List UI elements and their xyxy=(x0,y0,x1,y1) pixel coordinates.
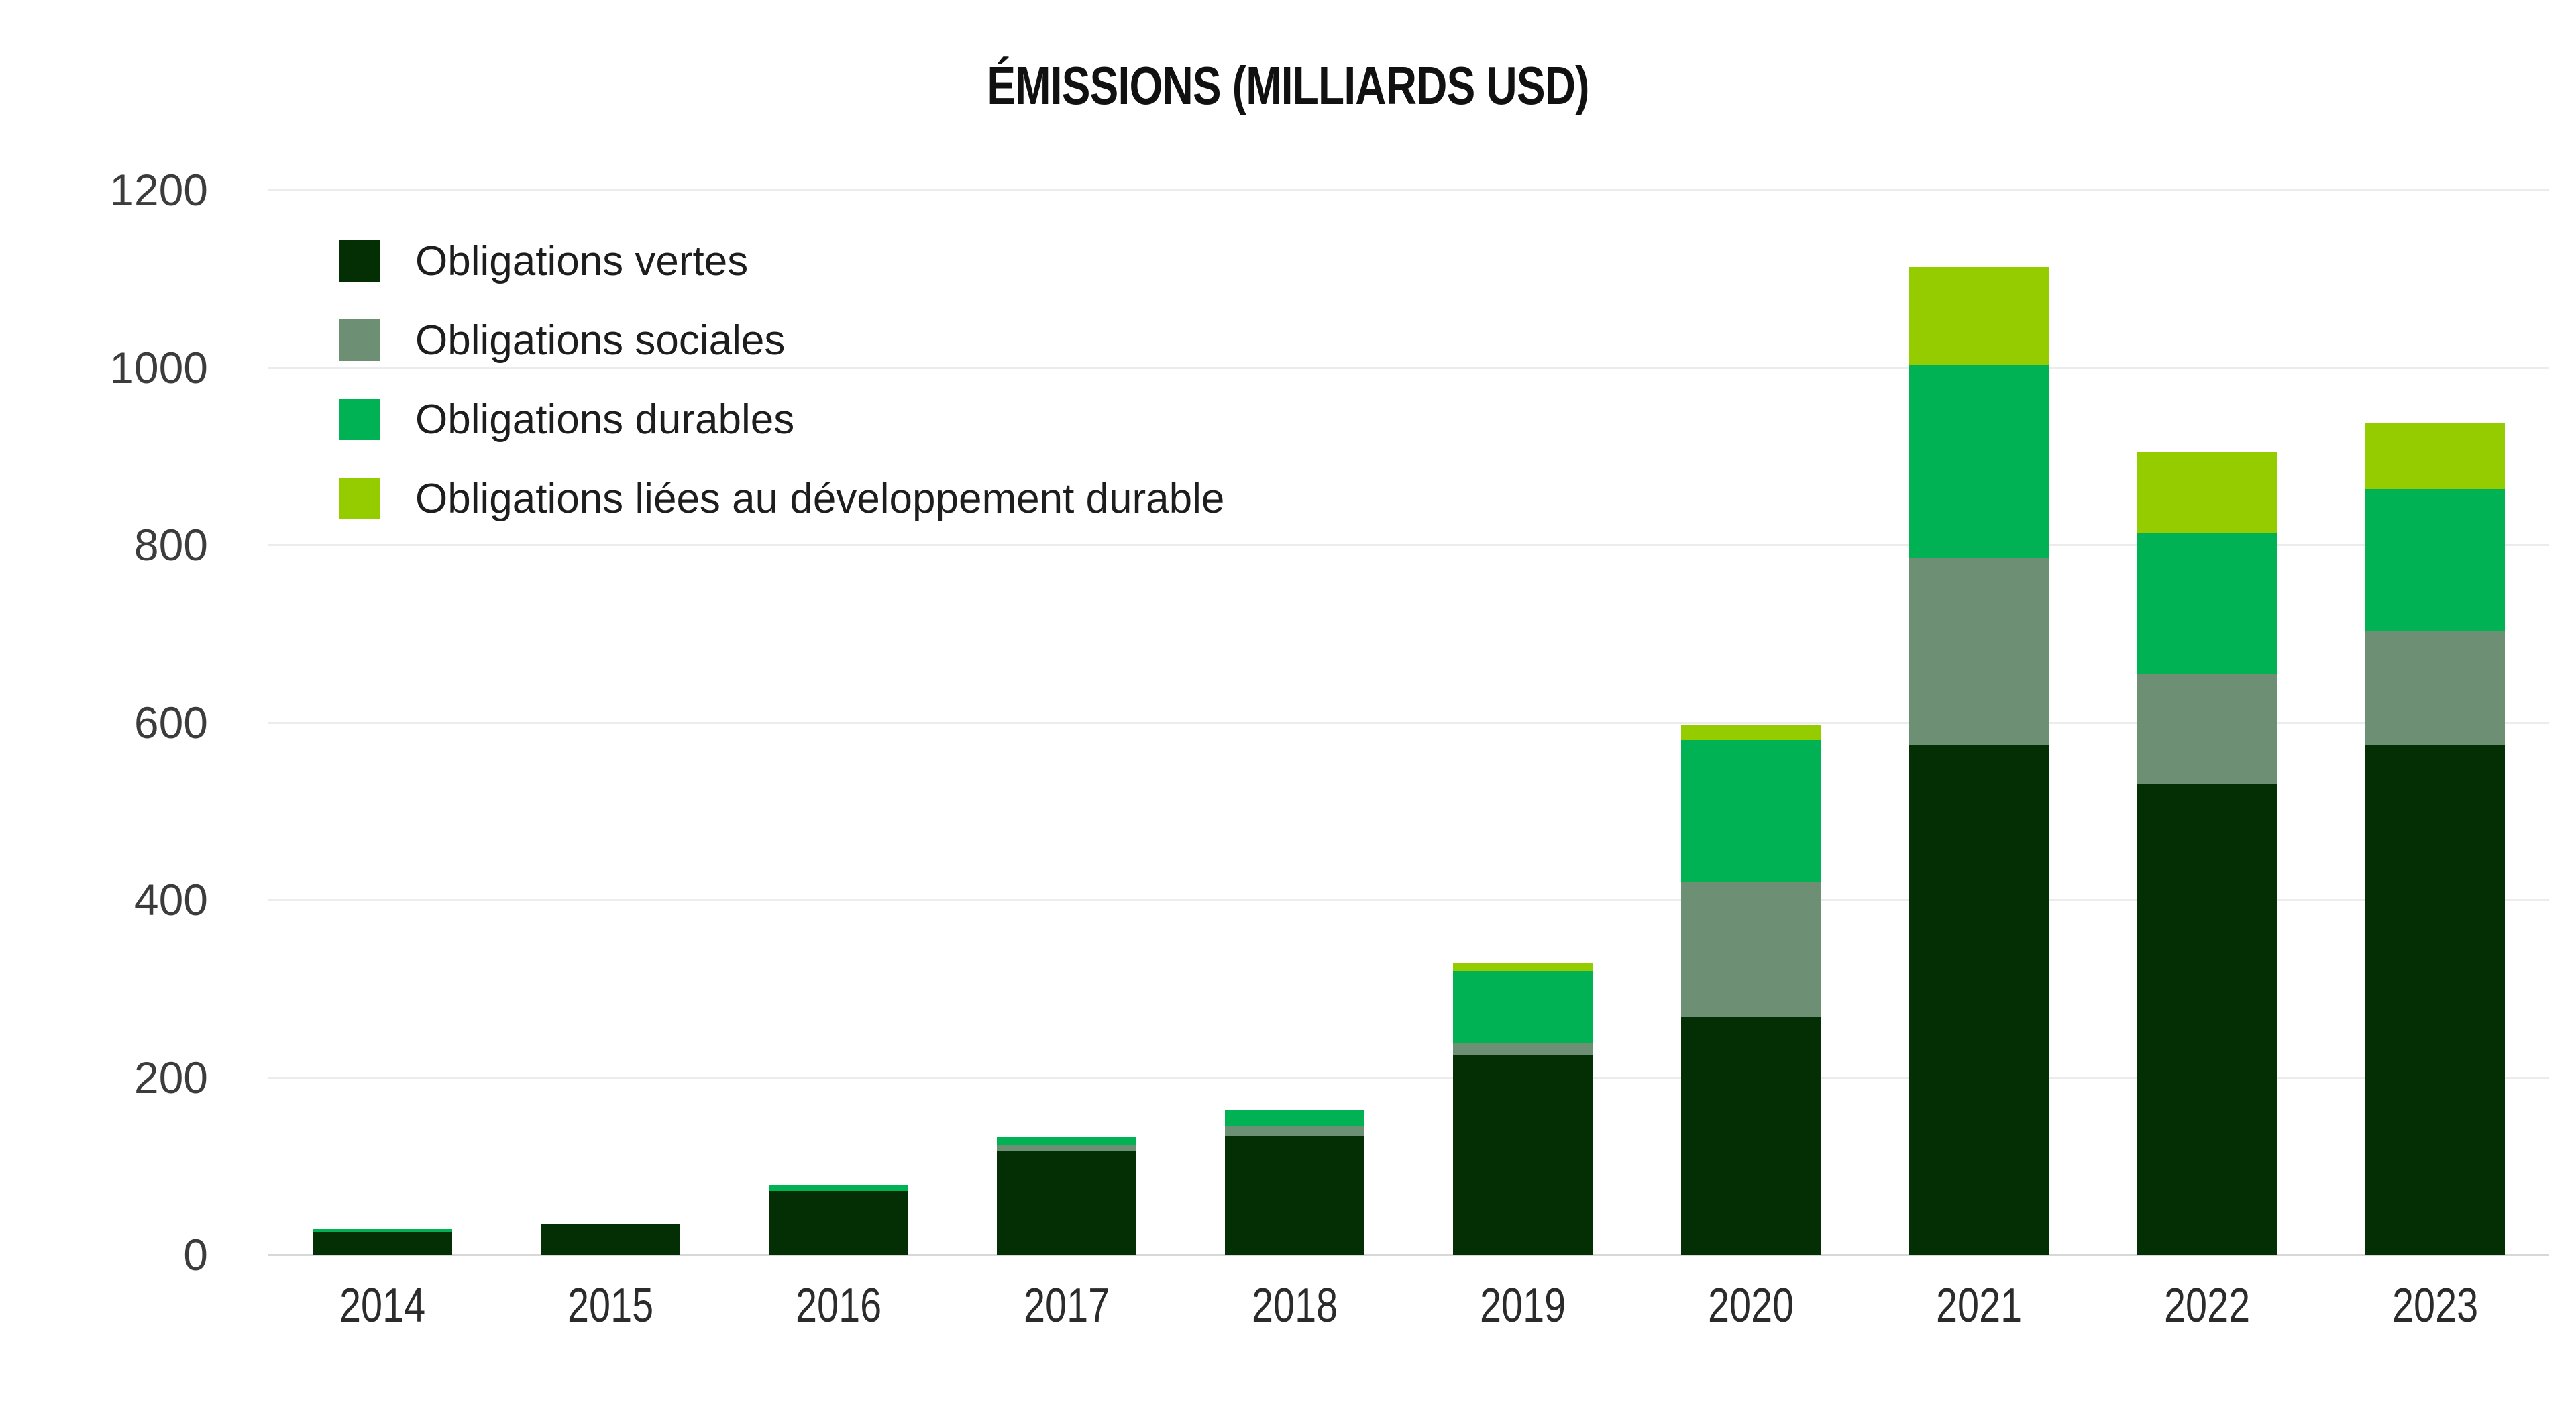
bar-segment[interactable] xyxy=(1453,971,1592,1043)
x-axis-tick-label: 2021 xyxy=(1936,1278,2022,1333)
chart-page: ÉMISSIONS (MILLIARDS USD) 12001000800600… xyxy=(0,0,2576,1417)
bar-slot-2021 xyxy=(1865,190,2093,1255)
chart-legend: Obligations vertesObligations socialesOb… xyxy=(339,221,1224,538)
legend-label: Obligations liées au développement durab… xyxy=(415,475,1224,523)
legend-swatch-icon xyxy=(339,399,380,440)
bar-segment[interactable] xyxy=(2365,423,2504,489)
bar-segment[interactable] xyxy=(1681,882,1820,1017)
legend-item[interactable]: Obligations sociales xyxy=(339,301,1224,380)
bar-segment[interactable] xyxy=(997,1137,1136,1145)
stacked-bar[interactable] xyxy=(1909,267,2048,1255)
stacked-bar[interactable] xyxy=(1453,963,1592,1255)
bar-segment[interactable] xyxy=(2365,631,2504,744)
legend-swatch-icon xyxy=(339,319,380,361)
bar-segment[interactable] xyxy=(1453,1055,1592,1255)
bar-segment[interactable] xyxy=(313,1232,451,1255)
x-axis-tick-cell: 2017 xyxy=(953,1278,1181,1333)
y-axis-tick-label: 600 xyxy=(134,697,208,748)
bar-segment[interactable] xyxy=(1909,745,2048,1255)
x-axis-tick-label: 2020 xyxy=(1708,1278,1794,1333)
x-axis-tick-cell: 2014 xyxy=(268,1278,496,1333)
bar-segment[interactable] xyxy=(2137,674,2276,784)
bar-segment[interactable] xyxy=(2137,533,2276,674)
x-axis-tick-cell: 2023 xyxy=(2321,1278,2549,1333)
bar-segment[interactable] xyxy=(1681,1017,1820,1255)
bar-slot-2020 xyxy=(1637,190,1865,1255)
y-axis-tick-label: 1000 xyxy=(109,342,208,393)
legend-swatch-icon xyxy=(339,478,380,519)
legend-item[interactable]: Obligations vertes xyxy=(339,221,1224,301)
bar-segment[interactable] xyxy=(769,1185,908,1191)
x-axis-tick-cell: 2015 xyxy=(496,1278,724,1333)
x-axis-tick-cell: 2020 xyxy=(1637,1278,1865,1333)
bar-slot-2023 xyxy=(2321,190,2549,1255)
bar-segment[interactable] xyxy=(1909,558,2048,745)
bar-segment[interactable] xyxy=(1909,267,2048,364)
y-axis-tick-labels: 120010008006004002000 xyxy=(0,190,248,1255)
bar-segment[interactable] xyxy=(1225,1110,1364,1126)
bar-segment[interactable] xyxy=(1453,1043,1592,1055)
bar-slot-2022 xyxy=(2093,190,2321,1255)
bar-segment[interactable] xyxy=(2137,784,2276,1255)
bar-segment[interactable] xyxy=(1681,740,1820,882)
x-axis-tick-labels: 2014201520162017201820192020202120222023 xyxy=(268,1278,2549,1333)
x-axis-tick-label: 2016 xyxy=(796,1278,881,1333)
chart-title: ÉMISSIONS (MILLIARDS USD) xyxy=(258,55,2318,117)
y-axis-tick-label: 800 xyxy=(134,519,208,570)
x-axis-tick-label: 2019 xyxy=(1480,1278,1566,1333)
stacked-bar[interactable] xyxy=(769,1185,908,1255)
x-axis-tick-cell: 2016 xyxy=(724,1278,953,1333)
x-axis-tick-label: 2015 xyxy=(568,1278,653,1333)
y-axis-tick-label: 1200 xyxy=(109,164,208,215)
bar-segment[interactable] xyxy=(2137,452,2276,533)
stacked-bar[interactable] xyxy=(1225,1110,1364,1255)
y-axis-tick-label: 0 xyxy=(183,1229,208,1280)
bar-segment[interactable] xyxy=(769,1191,908,1255)
stacked-bar[interactable] xyxy=(313,1229,451,1255)
stacked-bar[interactable] xyxy=(997,1137,1136,1255)
legend-label: Obligations vertes xyxy=(415,238,748,285)
bar-segment[interactable] xyxy=(1225,1136,1364,1255)
stacked-bar[interactable] xyxy=(541,1224,680,1255)
y-axis-tick-label: 200 xyxy=(134,1052,208,1103)
legend-item[interactable]: Obligations liées au développement durab… xyxy=(339,459,1224,538)
x-axis-tick-cell: 2022 xyxy=(2093,1278,2321,1333)
bar-segment[interactable] xyxy=(541,1224,680,1255)
x-axis-tick-label: 2022 xyxy=(2164,1278,2250,1333)
stacked-bar[interactable] xyxy=(1681,725,1820,1255)
legend-swatch-icon xyxy=(339,240,380,282)
x-axis-tick-cell: 2019 xyxy=(1409,1278,1637,1333)
x-axis-tick-label: 2023 xyxy=(2392,1278,2478,1333)
legend-label: Obligations sociales xyxy=(415,317,785,364)
y-axis-tick-label: 400 xyxy=(134,874,208,925)
bar-segment[interactable] xyxy=(1225,1126,1364,1136)
x-axis-tick-cell: 2018 xyxy=(1181,1278,1409,1333)
x-axis-tick-label: 2018 xyxy=(1252,1278,1338,1333)
bar-slot-2019 xyxy=(1409,190,1637,1255)
x-axis-tick-label: 2014 xyxy=(339,1278,425,1333)
bar-segment[interactable] xyxy=(2365,489,2504,631)
stacked-bar[interactable] xyxy=(2137,452,2276,1255)
bar-segment[interactable] xyxy=(1909,365,2048,558)
stacked-bar[interactable] xyxy=(2365,423,2504,1255)
legend-label: Obligations durables xyxy=(415,396,794,443)
bar-segment[interactable] xyxy=(2365,745,2504,1255)
bar-segment[interactable] xyxy=(1453,963,1592,971)
bar-segment[interactable] xyxy=(997,1145,1136,1151)
bar-segment[interactable] xyxy=(1681,725,1820,740)
x-axis-tick-cell: 2021 xyxy=(1865,1278,2093,1333)
x-axis-tick-label: 2017 xyxy=(1024,1278,1110,1333)
legend-item[interactable]: Obligations durables xyxy=(339,380,1224,459)
bar-segment[interactable] xyxy=(997,1151,1136,1255)
